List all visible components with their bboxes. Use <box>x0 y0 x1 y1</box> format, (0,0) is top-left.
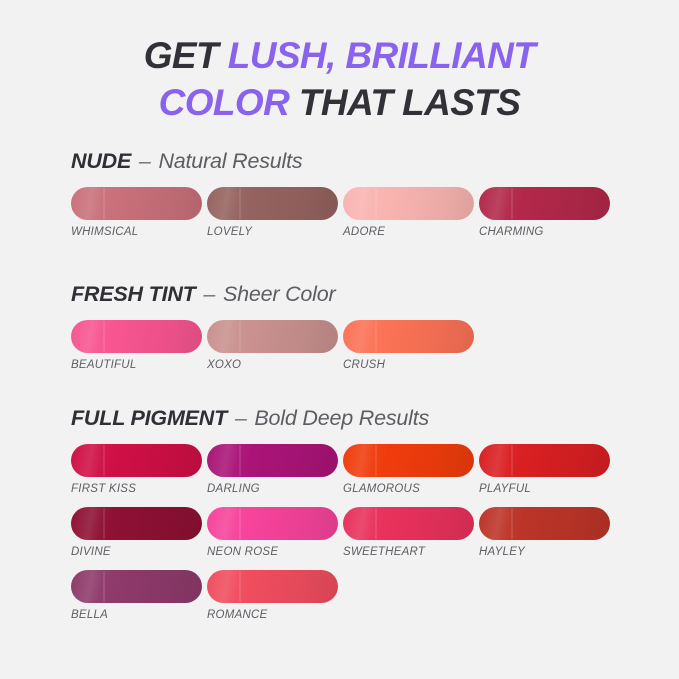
shade-swatch[interactable] <box>71 507 202 540</box>
shade-section-1: FRESH TINT – Sheer ColorBEAUTIFULXOXOCRU… <box>71 282 631 383</box>
shade-item[interactable]: FIRST KISS <box>71 444 202 495</box>
shade-label: NEON ROSE <box>207 546 338 558</box>
shade-swatch[interactable] <box>343 320 474 353</box>
title-word-color: COLOR <box>159 82 290 123</box>
shade-label: FIRST KISS <box>71 483 202 495</box>
section-heading: FULL PIGMENT – Bold Deep Results <box>71 406 631 431</box>
section-heading-name: NUDE <box>71 149 131 173</box>
shade-label: CHARMING <box>479 226 610 238</box>
shade-grid: WHIMSICALLOVELYADORECHARMING <box>71 187 611 250</box>
shade-swatch[interactable] <box>71 444 202 477</box>
title-word-get: GET <box>144 35 228 76</box>
shade-swatch[interactable] <box>71 320 202 353</box>
shade-label: DARLING <box>207 483 338 495</box>
title-words-that-lasts: THAT LASTS <box>289 82 520 123</box>
shade-label: BELLA <box>71 609 202 621</box>
shade-item[interactable]: PLAYFUL <box>479 444 610 495</box>
shade-item[interactable]: ADORE <box>343 187 474 238</box>
shade-swatch[interactable] <box>207 507 338 540</box>
section-heading-subtitle: Natural Results <box>158 149 302 173</box>
shade-item[interactable]: ROMANCE <box>207 570 338 621</box>
shade-grid: FIRST KISSDARLINGGLAMOROUSPLAYFULDIVINEN… <box>71 444 611 633</box>
shade-label: ADORE <box>343 226 474 238</box>
shade-item[interactable]: GLAMOROUS <box>343 444 474 495</box>
section-heading-name: FRESH TINT <box>71 282 196 306</box>
shade-label: HAYLEY <box>479 546 610 558</box>
shade-label: PLAYFUL <box>479 483 610 495</box>
shade-swatch[interactable] <box>207 570 338 603</box>
section-heading-name: FULL PIGMENT <box>71 406 227 430</box>
shade-swatch[interactable] <box>207 320 338 353</box>
shade-swatch[interactable] <box>479 507 610 540</box>
shade-item[interactable]: XOXO <box>207 320 338 371</box>
shade-label: XOXO <box>207 359 338 371</box>
shade-swatch[interactable] <box>71 187 202 220</box>
shade-label: WHIMSICAL <box>71 226 202 238</box>
shade-item[interactable]: LOVELY <box>207 187 338 238</box>
section-heading: NUDE – Natural Results <box>71 149 631 174</box>
shade-label: BEAUTIFUL <box>71 359 202 371</box>
section-heading-dash: – <box>137 149 153 173</box>
shade-swatch[interactable] <box>207 187 338 220</box>
shade-item[interactable]: SWEETHEART <box>343 507 474 558</box>
shade-swatch[interactable] <box>479 187 610 220</box>
shade-swatch[interactable] <box>343 187 474 220</box>
section-heading-subtitle: Sheer Color <box>223 282 336 306</box>
shade-swatch[interactable] <box>343 444 474 477</box>
shade-item[interactable]: DARLING <box>207 444 338 495</box>
shade-item[interactable]: DIVINE <box>71 507 202 558</box>
shade-item[interactable]: NEON ROSE <box>207 507 338 558</box>
shade-label: SWEETHEART <box>343 546 474 558</box>
shade-label: CRUSH <box>343 359 474 371</box>
shade-label: ROMANCE <box>207 609 338 621</box>
page-title-line-1: GET LUSH, BRILLIANT <box>0 32 679 79</box>
shade-swatch[interactable] <box>71 570 202 603</box>
shade-label: GLAMOROUS <box>343 483 474 495</box>
shade-section-0: NUDE – Natural ResultsWHIMSICALLOVELYADO… <box>71 149 631 250</box>
section-heading: FRESH TINT – Sheer Color <box>71 282 631 307</box>
shade-item[interactable]: BEAUTIFUL <box>71 320 202 371</box>
page-title: GET LUSH, BRILLIANT COLOR THAT LASTS <box>0 32 679 127</box>
shade-label: LOVELY <box>207 226 338 238</box>
section-heading-dash: – <box>233 406 249 430</box>
shade-label: DIVINE <box>71 546 202 558</box>
title-words-lush-brilliant: LUSH, BRILLIANT <box>228 35 536 76</box>
shade-section-2: FULL PIGMENT – Bold Deep ResultsFIRST KI… <box>71 406 631 633</box>
shade-swatch[interactable] <box>479 444 610 477</box>
shade-grid: BEAUTIFULXOXOCRUSH <box>71 320 611 383</box>
shade-swatch[interactable] <box>343 507 474 540</box>
shade-item[interactable]: BELLA <box>71 570 202 621</box>
shade-item[interactable]: CHARMING <box>479 187 610 238</box>
shade-item[interactable]: WHIMSICAL <box>71 187 202 238</box>
shade-swatch[interactable] <box>207 444 338 477</box>
shade-item[interactable]: CRUSH <box>343 320 474 371</box>
shade-item[interactable]: HAYLEY <box>479 507 610 558</box>
section-heading-dash: – <box>201 282 217 306</box>
page-title-line-2: COLOR THAT LASTS <box>0 79 679 126</box>
lipstick-shade-chart: GET LUSH, BRILLIANT COLOR THAT LASTS NUD… <box>0 0 679 679</box>
section-heading-subtitle: Bold Deep Results <box>254 406 429 430</box>
